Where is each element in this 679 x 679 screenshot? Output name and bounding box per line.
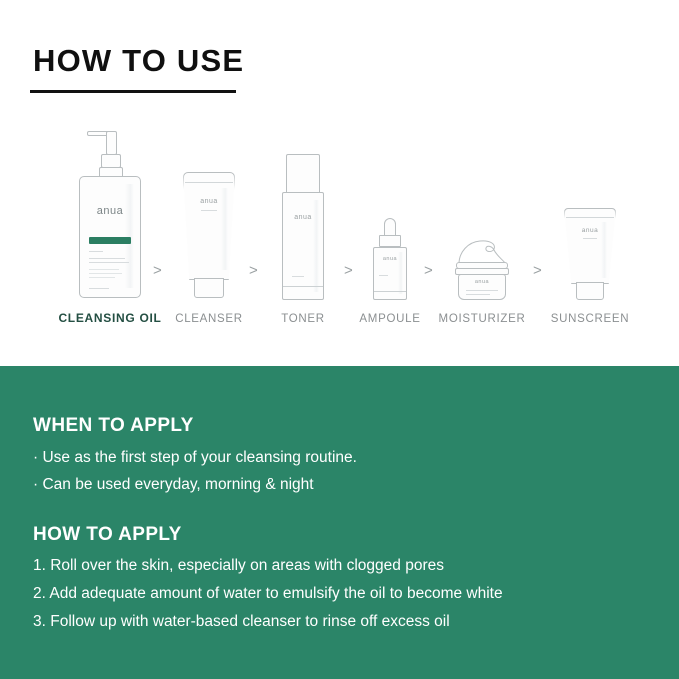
toner-illustration: anua — [280, 154, 326, 300]
how-to-apply-heading: HOW TO APPLY — [33, 525, 182, 544]
ampoule-highlight — [398, 252, 403, 294]
ampoule-illustration: anua — [372, 218, 408, 300]
brand-mark: anua — [200, 198, 218, 205]
brand-mark: anua — [383, 257, 397, 263]
how-to-apply-item: 2. Add adequate amount of water to emuls… — [33, 586, 503, 602]
routine-chevron-icon: > — [344, 263, 353, 278]
dropper-collar — [379, 235, 401, 247]
routine-chevron-icon: > — [153, 263, 162, 278]
how-to-use-section: HOW TO USE anua — [0, 0, 679, 366]
when-to-apply-item: · Can be used everyday, morning & night — [33, 477, 314, 493]
bottle-highlight — [125, 184, 134, 288]
brand-mark: anua — [294, 214, 312, 221]
routine-label-toner: TONER — [281, 313, 325, 325]
jar-body — [458, 274, 506, 300]
jar-text-line — [466, 294, 490, 295]
how-to-apply-item: 1. Roll over the skin, especially on are… — [33, 558, 444, 574]
tube-cap — [194, 278, 224, 298]
page-title: HOW TO USE — [33, 45, 244, 76]
sunscreen-highlight — [601, 222, 607, 278]
toner-highlight — [313, 200, 319, 292]
label-text-line — [89, 251, 103, 252]
routine-label-moisturizer: MOISTURIZER — [439, 313, 526, 325]
routine-chevron-icon: > — [249, 263, 258, 278]
toner-text-line — [292, 276, 304, 277]
toner-base-seam — [283, 286, 323, 287]
cleansing-oil-illustration: anua — [73, 128, 147, 300]
product-label-band — [89, 237, 131, 244]
dropper-bulb — [384, 218, 396, 236]
routine-label-sunscreen: SUNSCREEN — [551, 313, 630, 325]
moisturizer-illustration: anua — [454, 238, 510, 300]
when-to-apply-heading: WHEN TO APPLY — [33, 416, 194, 435]
sunscreen-tube-body — [564, 208, 616, 284]
tube-seam — [185, 182, 233, 183]
routine-step-moisturizer: anua MOISTURIZER — [437, 108, 527, 333]
ampoule-text-line — [379, 275, 388, 276]
routine-chevron-icon: > — [424, 263, 433, 278]
sunscreen-tube-seam — [566, 217, 614, 218]
label-text-line — [89, 269, 119, 270]
routine-step-sunscreen: anua SUNSCREEN — [545, 108, 635, 333]
pump-collar — [101, 154, 121, 168]
routine-step-cleansing-oil: anua CLEANSING OIL — [45, 108, 175, 333]
label-volume-line — [89, 288, 109, 289]
when-to-apply-item: · Use as the first step of your cleansin… — [33, 450, 357, 466]
brand-mark: anua — [97, 206, 123, 217]
pump-stem — [106, 131, 117, 155]
title-underline — [30, 90, 236, 93]
sunscreen-text-line — [583, 238, 597, 239]
jar-text-line — [466, 290, 498, 291]
sunscreen-cap — [576, 282, 604, 300]
label-text-line — [89, 273, 122, 274]
routine-label-cleansing-oil: CLEANSING OIL — [58, 311, 161, 325]
tube-highlight — [221, 188, 228, 270]
brand-mark: anua — [582, 228, 598, 235]
cleanser-illustration: anua — [182, 172, 236, 300]
label-text-line — [89, 262, 129, 263]
routine-chevron-icon: > — [533, 263, 542, 278]
tube-text-line — [201, 210, 217, 211]
brand-mark: anua — [475, 280, 489, 286]
routine-step-toner: anua TONER — [266, 108, 340, 333]
label-text-line — [89, 258, 125, 259]
routine-label-cleanser: CLEANSER — [175, 313, 243, 325]
how-to-apply-item: 3. Follow up with water-based cleanser t… — [33, 614, 450, 630]
routine-step-ampoule: anua AMPOULE — [358, 108, 422, 333]
sunscreen-illustration: anua — [563, 208, 617, 300]
routine-label-ampoule: AMPOULE — [359, 313, 420, 325]
routine-steps-strip: anua CLEANSING OIL > — [0, 108, 679, 333]
toner-cap — [286, 154, 320, 196]
label-text-line — [89, 277, 115, 278]
apply-instructions-section: WHEN TO APPLY · Use as the first step of… — [0, 366, 679, 679]
ampoule-base-seam — [374, 291, 406, 292]
routine-step-cleanser: anua CLEANSER — [170, 108, 248, 333]
